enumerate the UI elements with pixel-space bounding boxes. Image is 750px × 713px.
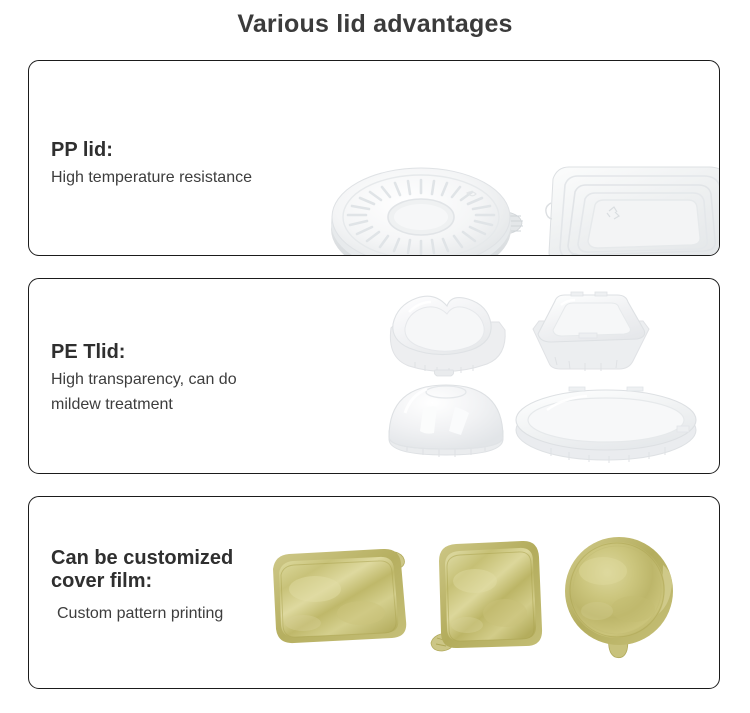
panel-pp-heading: PP lid: [51,139,252,162]
panel-film-text-block: Can be customized cover film: Custom pat… [51,547,233,627]
panel-pe-tlid: PE Tlid: High transparency, can do milde… [28,278,720,474]
product-image-rectangular-pp-lid [523,145,720,256]
panel-pp-lid: PP lid: High temperature resistance [28,60,720,256]
panel-pe-text-block: PE Tlid: High transparency, can do milde… [51,341,237,418]
panel-cover-film: Can be customized cover film: Custom pat… [28,496,720,689]
panel-pe-heading: PE Tlid: [51,341,237,364]
product-image-gold-square-foil-lid [427,537,551,661]
product-image-round-pp-lid [329,149,545,256]
panel-pe-description: High transparency, can do mildew treatme… [51,368,237,418]
page-title: Various lid advantages [0,10,750,39]
product-image-square-pe-lid [521,289,661,381]
panel-film-description: Custom pattern printing [57,602,233,627]
product-image-heart-shaped-pe-lid [377,290,517,382]
product-image-gold-rectangular-foil-lid [257,541,417,653]
panel-pp-text-block: PP lid: High temperature resistance [51,139,252,191]
product-image-gold-round-foil-lid [559,535,683,663]
product-image-dome-pe-lid [381,379,511,465]
panel-film-heading: Can be customized cover film: [51,547,233,593]
product-image-oval-pe-lid [511,382,701,466]
panel-pp-description: High temperature resistance [51,166,252,191]
